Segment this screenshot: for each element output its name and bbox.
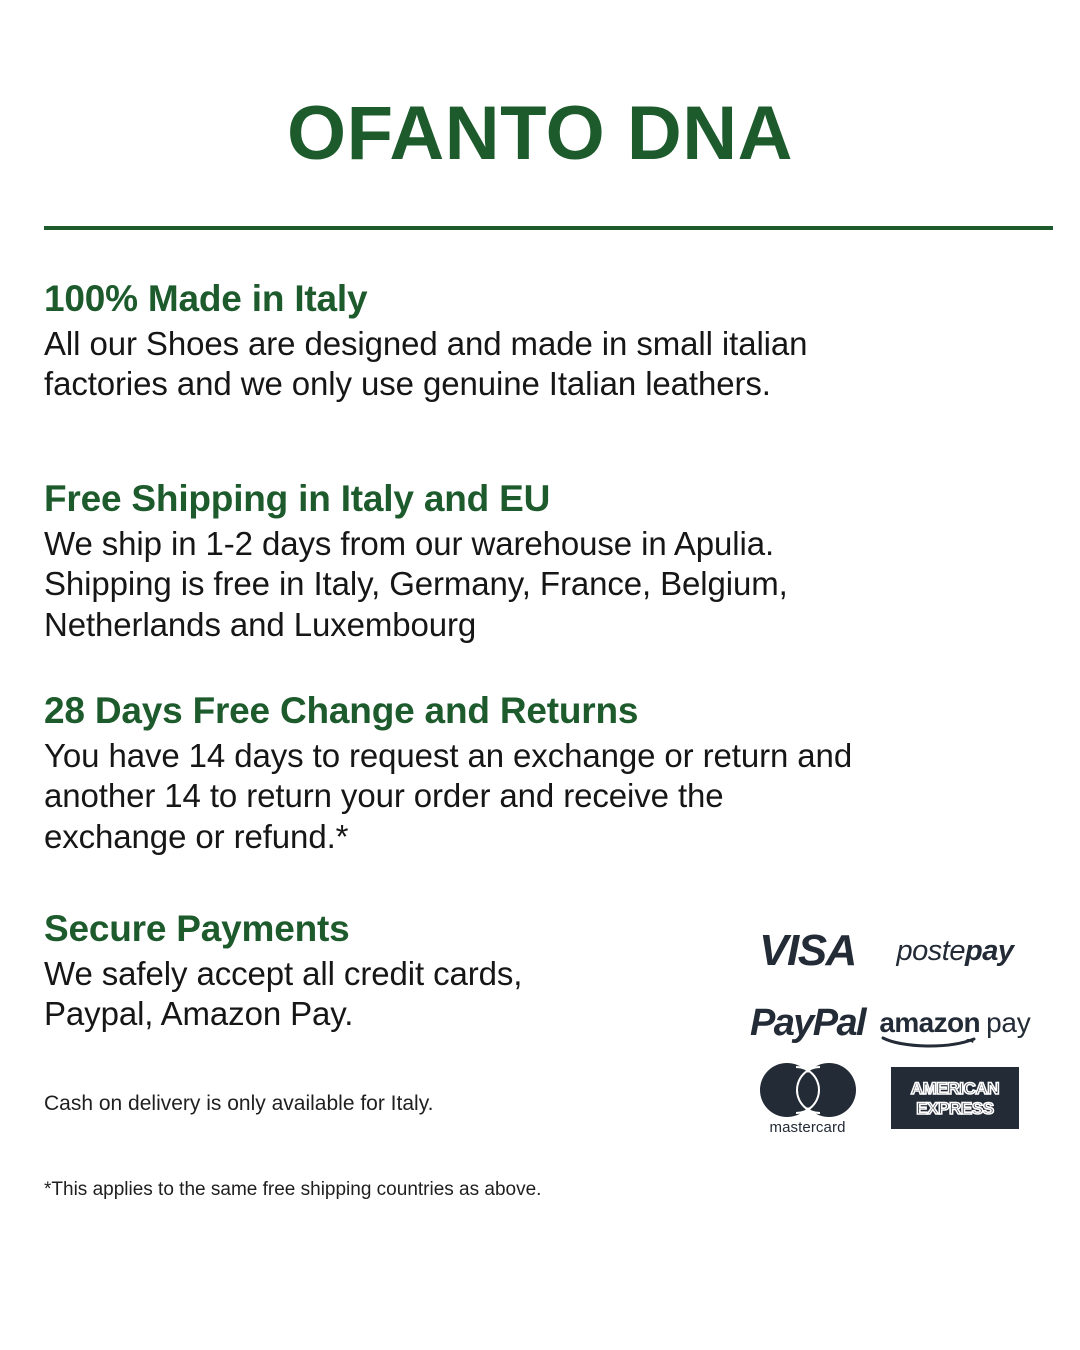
visa-logo-text: VISA bbox=[759, 929, 856, 973]
payment-logo-row-2: PayPal amazonpay bbox=[735, 987, 1035, 1059]
amazon-pay-logo-text: amazonpay bbox=[879, 1007, 1030, 1038]
section-heading-free-returns: 28 Days Free Change and Returns bbox=[44, 690, 1036, 732]
amex-logo-box: AMERICAN EXPRESS bbox=[891, 1067, 1019, 1129]
amazon-pay-word: pay bbox=[986, 1007, 1031, 1038]
postepay-logo-text-bold: pay bbox=[965, 935, 1013, 967]
ofanto-dna-infographic: OFANTO DNA 100% Made in Italy All our Sh… bbox=[0, 0, 1080, 1350]
amazon-pay-logo-wrap: amazonpay bbox=[879, 1009, 1030, 1037]
mastercard-logo: mastercard bbox=[735, 1063, 880, 1133]
paypal-logo-text: PayPal bbox=[750, 1004, 865, 1042]
section-free-shipping: Free Shipping in Italy and EU We ship in… bbox=[44, 478, 1036, 645]
note-footnote: *This applies to the same free shipping … bbox=[44, 1178, 764, 1203]
section-secure-payments: Secure Payments We safely accept all cre… bbox=[44, 908, 704, 1035]
postepay-logo-text-light: poste bbox=[897, 935, 965, 967]
section-heading-made-in-italy: 100% Made in Italy bbox=[44, 278, 1036, 320]
section-body-free-shipping: We ship in 1-2 days from our warehouse i… bbox=[44, 524, 1036, 645]
visa-logo: VISA bbox=[735, 929, 880, 973]
note-cash-on-delivery: Cash on delivery is only available for I… bbox=[44, 1090, 704, 1117]
amazon-pay-logo: amazonpay bbox=[880, 1009, 1030, 1037]
page-title: OFANTO DNA bbox=[0, 96, 1080, 172]
payment-logos-grid: VISA postepay PayPal amazonpay bbox=[735, 915, 1035, 1145]
payment-logo-row-3: mastercard AMERICAN EXPRESS bbox=[735, 1059, 1035, 1137]
amex-logo-line-1: AMERICAN bbox=[911, 1080, 999, 1097]
payment-logo-row-1: VISA postepay bbox=[735, 915, 1035, 987]
section-body-secure-payments: We safely accept all credit cards, Paypa… bbox=[44, 954, 704, 1035]
section-heading-secure-payments: Secure Payments bbox=[44, 908, 704, 950]
postepay-logo-text: postepay bbox=[897, 937, 1014, 966]
section-free-returns: 28 Days Free Change and Returns You have… bbox=[44, 690, 1036, 857]
amazon-smile-arrow-icon bbox=[881, 1035, 983, 1049]
mastercard-mark-icon: mastercard bbox=[760, 1063, 856, 1133]
amex-logo: AMERICAN EXPRESS bbox=[880, 1067, 1030, 1129]
paypal-logo: PayPal bbox=[735, 1004, 880, 1042]
amex-logo-line-2: EXPRESS bbox=[916, 1100, 994, 1117]
amazon-wordmark: amazon bbox=[879, 1007, 980, 1038]
postepay-logo: postepay bbox=[880, 937, 1030, 966]
section-made-in-italy: 100% Made in Italy All our Shoes are des… bbox=[44, 278, 1036, 405]
section-body-free-returns: You have 14 days to request an exchange … bbox=[44, 736, 1036, 857]
section-heading-free-shipping: Free Shipping in Italy and EU bbox=[44, 478, 1036, 520]
section-body-made-in-italy: All our Shoes are designed and made in s… bbox=[44, 324, 1036, 405]
mastercard-logo-text: mastercard bbox=[760, 1119, 856, 1136]
mastercard-circles bbox=[760, 1063, 856, 1117]
header-divider bbox=[44, 226, 1053, 230]
